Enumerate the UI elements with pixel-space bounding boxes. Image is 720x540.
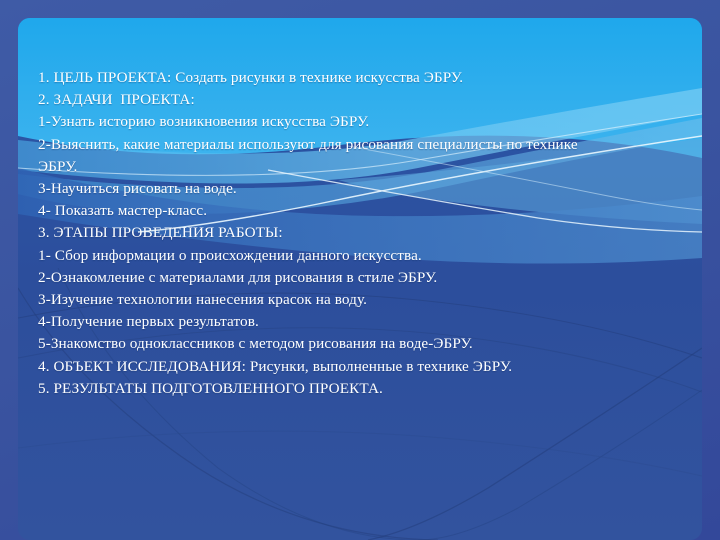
body-line: 1-Узнать историю возникновения искусства… (38, 111, 688, 133)
body-line: 3-Изучение технологии нанесения красок н… (38, 289, 688, 311)
body-line: ЭБРУ. (38, 156, 688, 178)
body-line: 2. ЗАДАЧИ ПРОЕКТА: (38, 89, 688, 111)
body-line: 2-Ознакомление с материалами для рисован… (38, 267, 688, 289)
body-line: 3. ЭТАПЫ ПРОВЕДЕНИЯ РАБОТЫ: (38, 222, 688, 244)
body-line: 3-Научиться рисовать на воде. (38, 178, 688, 200)
body-line: 4- Показать мастер-класс. (38, 200, 688, 222)
body-line: 1- Сбор информации о происхождении данно… (38, 245, 688, 267)
body-line: 4-Получение первых результатов. (38, 311, 688, 333)
slide-body-text: 1. ЦЕЛЬ ПРОЕКТА: Создать рисунки в техни… (38, 67, 688, 400)
body-line: 5-Знакомство одноклассников с методом ри… (38, 333, 688, 355)
presentation-slide: 1. ЦЕЛЬ ПРОЕКТА: Создать рисунки в техни… (0, 0, 720, 540)
body-line: 1. ЦЕЛЬ ПРОЕКТА: Создать рисунки в техни… (38, 67, 688, 89)
body-line: 4. ОБЪЕКТ ИССЛЕДОВАНИЯ: Рисунки, выполне… (38, 356, 688, 378)
body-line: 2-Выяснить, какие материалы используют д… (38, 134, 688, 156)
body-line: 5. РЕЗУЛЬТАТЫ ПОДГОТОВЛЕННОГО ПРОЕКТА. (38, 378, 688, 400)
